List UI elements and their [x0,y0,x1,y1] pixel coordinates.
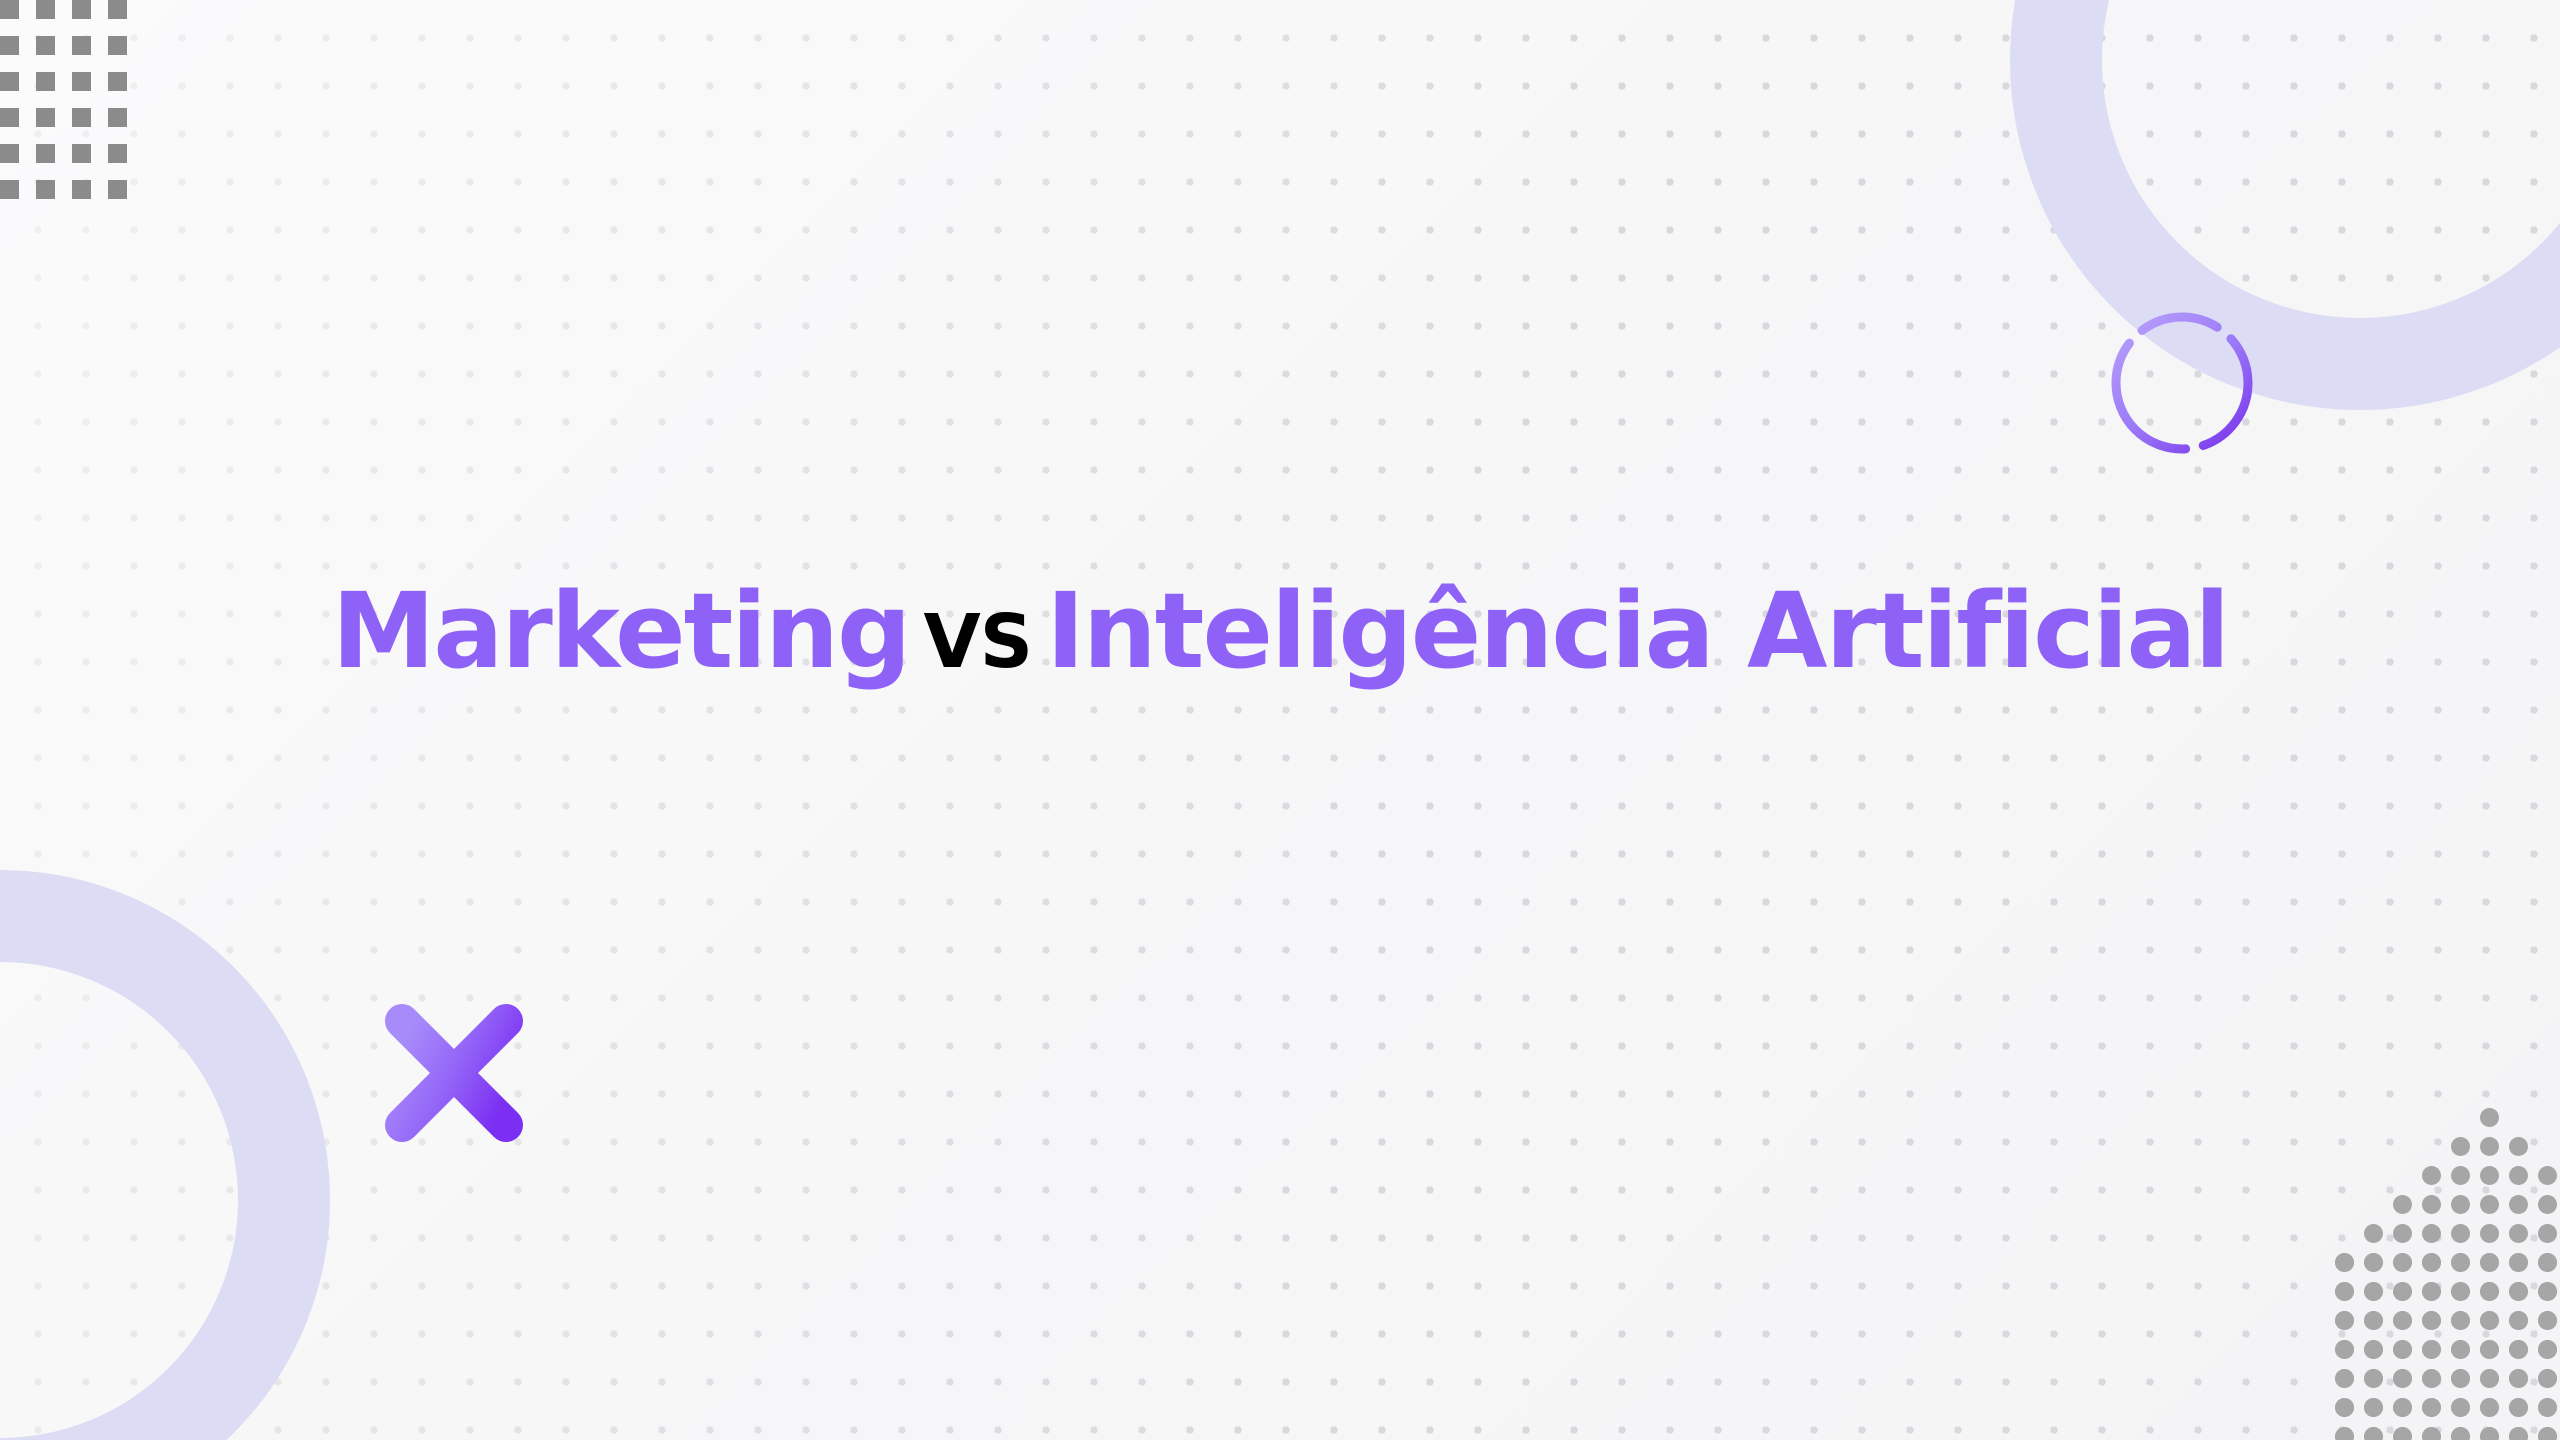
diamond-halftone-bottom-right [2140,1100,2560,1440]
halftone-dot [2451,1253,2470,1272]
halftone-dot [2509,1195,2528,1214]
halftone-dot [2335,1340,2354,1359]
halftone-dot [2509,1166,2528,1185]
halftone-dot [2480,1137,2499,1156]
halftone-square [36,144,55,163]
halftone-dot [2451,1369,2470,1388]
halftone-dot [2538,1311,2557,1330]
halftone-dot [2422,1369,2441,1388]
halftone-square [108,0,127,19]
halftone-dot [2393,1195,2412,1214]
halftone-dot [2364,1311,2383,1330]
halftone-dot [2538,1224,2557,1243]
halftone-square [72,108,91,127]
halftone-dot [2480,1340,2499,1359]
halftone-dot [2509,1398,2528,1417]
halftone-square [72,0,91,19]
halftone-dot [2480,1427,2499,1440]
halftone-dot [2422,1166,2441,1185]
halftone-square [72,36,91,55]
dashed-circle-icon [2106,307,2258,459]
halftone-square [0,36,19,55]
halftone-dot [2509,1224,2528,1243]
halftone-square [0,72,19,91]
halftone-dot [2451,1195,2470,1214]
halftone-dot [2538,1253,2557,1272]
halftone-dot [2364,1369,2383,1388]
halftone-square [108,36,127,55]
halftone-dot [2422,1195,2441,1214]
halftone-dot [2480,1282,2499,1301]
halftone-square [72,180,91,199]
halftone-square [108,72,127,91]
halftone-dot [2422,1340,2441,1359]
halftone-dot [2538,1369,2557,1388]
halftone-dot [2538,1340,2557,1359]
halftone-dot [2393,1369,2412,1388]
halftone-square [0,144,19,163]
halftone-dot [2335,1282,2354,1301]
halftone-dot [2335,1311,2354,1330]
halftone-dot [2509,1282,2528,1301]
halftone-dot [2422,1311,2441,1330]
halftone-dot [2509,1340,2528,1359]
halftone-dot [2451,1137,2470,1156]
halftone-square [72,72,91,91]
headline-segment-ia: Inteligência Artificial [1046,570,2228,692]
halftone-dot [2393,1224,2412,1243]
halftone-square [36,180,55,199]
halftone-dot [2451,1427,2470,1440]
halftone-dot [2538,1282,2557,1301]
halftone-dot [2364,1282,2383,1301]
halftone-dot [2509,1311,2528,1330]
headline-segment-marketing: Marketing [332,570,910,692]
square-halftone-top-left [0,0,144,216]
halftone-dot [2393,1427,2412,1440]
halftone-dot [2364,1427,2383,1440]
halftone-dot [2393,1398,2412,1417]
x-mark-icon [378,997,530,1149]
halftone-square [72,144,91,163]
halftone-square [36,72,55,91]
halftone-dot [2422,1253,2441,1272]
halftone-dot [2393,1340,2412,1359]
halftone-dot [2364,1340,2383,1359]
halftone-dot [2451,1282,2470,1301]
halftone-square [0,108,19,127]
halftone-dot [2480,1166,2499,1185]
halftone-dot [2480,1398,2499,1417]
halftone-dot [2364,1253,2383,1272]
halftone-square [0,0,19,19]
halftone-dot [2538,1195,2557,1214]
poster-canvas: MarketingvsInteligência Artificial [0,0,2560,1440]
halftone-square [0,180,19,199]
halftone-square [36,36,55,55]
headline-connector-vs: vs [909,599,1046,685]
halftone-dot [2451,1224,2470,1243]
halftone-dot [2538,1427,2557,1440]
headline: MarketingvsInteligência Artificial [332,570,2228,693]
halftone-dot [2393,1311,2412,1330]
halftone-dot [2364,1224,2383,1243]
halftone-dot [2480,1253,2499,1272]
halftone-dot [2451,1166,2470,1185]
halftone-dot [2335,1398,2354,1417]
halftone-dot [2538,1398,2557,1417]
halftone-square [36,108,55,127]
halftone-dot [2538,1166,2557,1185]
halftone-dot [2451,1398,2470,1417]
halftone-dot [2422,1224,2441,1243]
halftone-dot [2451,1311,2470,1330]
halftone-dot [2480,1195,2499,1214]
halftone-dot [2509,1427,2528,1440]
halftone-dot [2335,1253,2354,1272]
halftone-dot [2480,1224,2499,1243]
halftone-square [108,108,127,127]
halftone-dot [2509,1137,2528,1156]
halftone-dot [2509,1253,2528,1272]
halftone-square [108,144,127,163]
halftone-dot [2451,1340,2470,1359]
halftone-dot [2480,1108,2499,1127]
halftone-dot [2335,1427,2354,1440]
halftone-dot [2509,1369,2528,1388]
halftone-dot [2393,1253,2412,1272]
halftone-square [36,0,55,19]
halftone-dot [2480,1369,2499,1388]
halftone-dot [2480,1311,2499,1330]
halftone-dot [2422,1398,2441,1417]
halftone-dot [2335,1369,2354,1388]
halftone-dot [2422,1282,2441,1301]
halftone-dot [2422,1427,2441,1440]
page-title: MarketingvsInteligência Artificial [0,570,2560,693]
halftone-dot [2393,1282,2412,1301]
halftone-dot [2364,1398,2383,1417]
halftone-square [108,180,127,199]
